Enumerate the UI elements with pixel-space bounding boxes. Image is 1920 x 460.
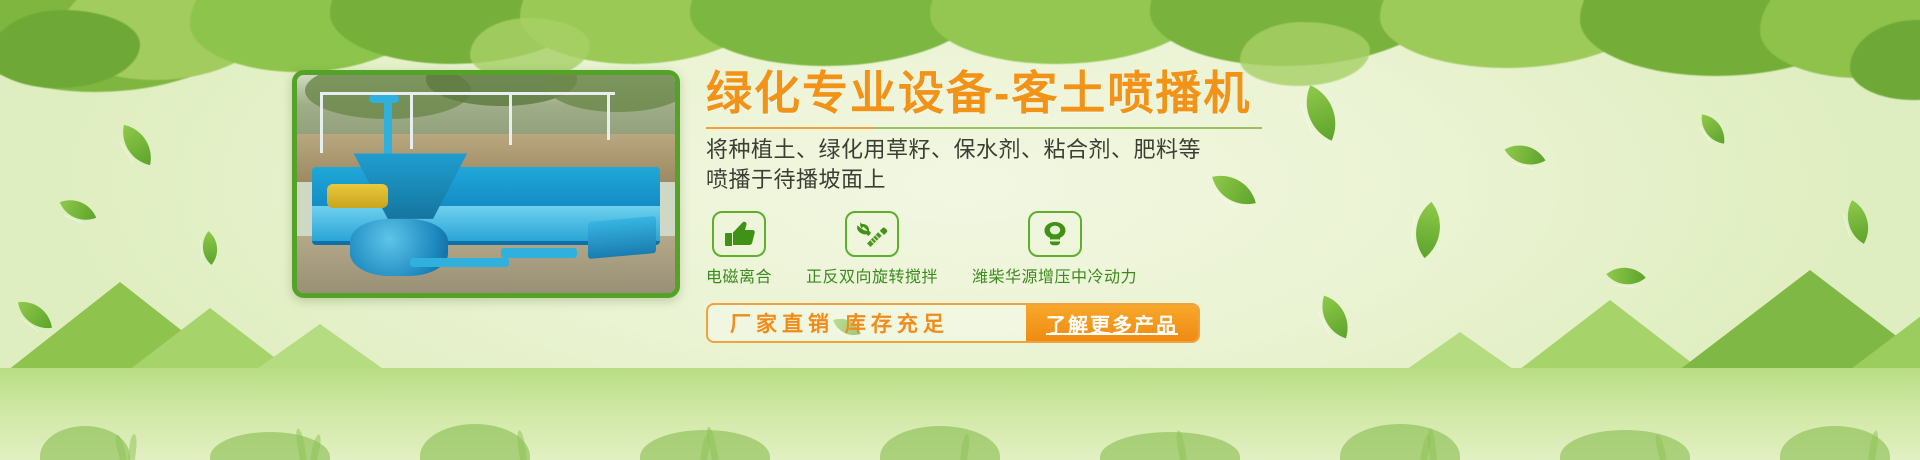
thumbs-up-icon xyxy=(712,211,766,257)
engine-gear-icon xyxy=(1028,211,1082,257)
product-photo xyxy=(292,70,680,298)
leaf-icon xyxy=(193,231,227,265)
cta-bar: 厂家直销 库存充足 了解更多产品 xyxy=(706,303,1200,343)
leaf-icon xyxy=(60,192,96,228)
learn-more-button[interactable]: 了解更多产品 xyxy=(1026,305,1198,341)
page-title: 绿化专业设备-客土喷播机 xyxy=(706,66,1526,120)
feature-label: 正反双向旋转搅拌 xyxy=(806,263,938,287)
feature-item-weichai-power: 潍柴华源增压中冷动力 xyxy=(972,211,1137,287)
feature-label: 电磁离合 xyxy=(706,263,772,287)
title-divider xyxy=(706,127,1262,129)
cta-slogan: 厂家直销 库存充足 xyxy=(708,308,965,338)
leaf-icon xyxy=(1836,200,1880,244)
subtitle-line-1: 将种植土、绿化用草籽、保水剂、粘合剂、肥料等 xyxy=(706,135,1526,165)
wrench-screwdriver-icon xyxy=(845,211,899,257)
feature-item-electromagnetic-clutch: 电磁离合 xyxy=(706,211,772,287)
feature-list: 电磁离合 正反双向旋转搅拌 xyxy=(706,211,1526,287)
leaf-icon xyxy=(117,125,157,165)
leaf-icon xyxy=(1698,114,1727,143)
feature-item-bidirectional-mixing: 正反双向旋转搅拌 xyxy=(806,211,938,287)
promo-banner: 绿化专业设备-客土喷播机 将种植土、绿化用草籽、保水剂、粘合剂、肥料等 喷播于待… xyxy=(0,0,1920,460)
banner-content: 绿化专业设备-客土喷播机 将种植土、绿化用草籽、保水剂、粘合剂、肥料等 喷播于待… xyxy=(706,66,1526,343)
subtitle-line-2: 喷播于待播坡面上 xyxy=(706,165,1526,195)
feature-label: 潍柴华源增压中冷动力 xyxy=(972,263,1137,287)
